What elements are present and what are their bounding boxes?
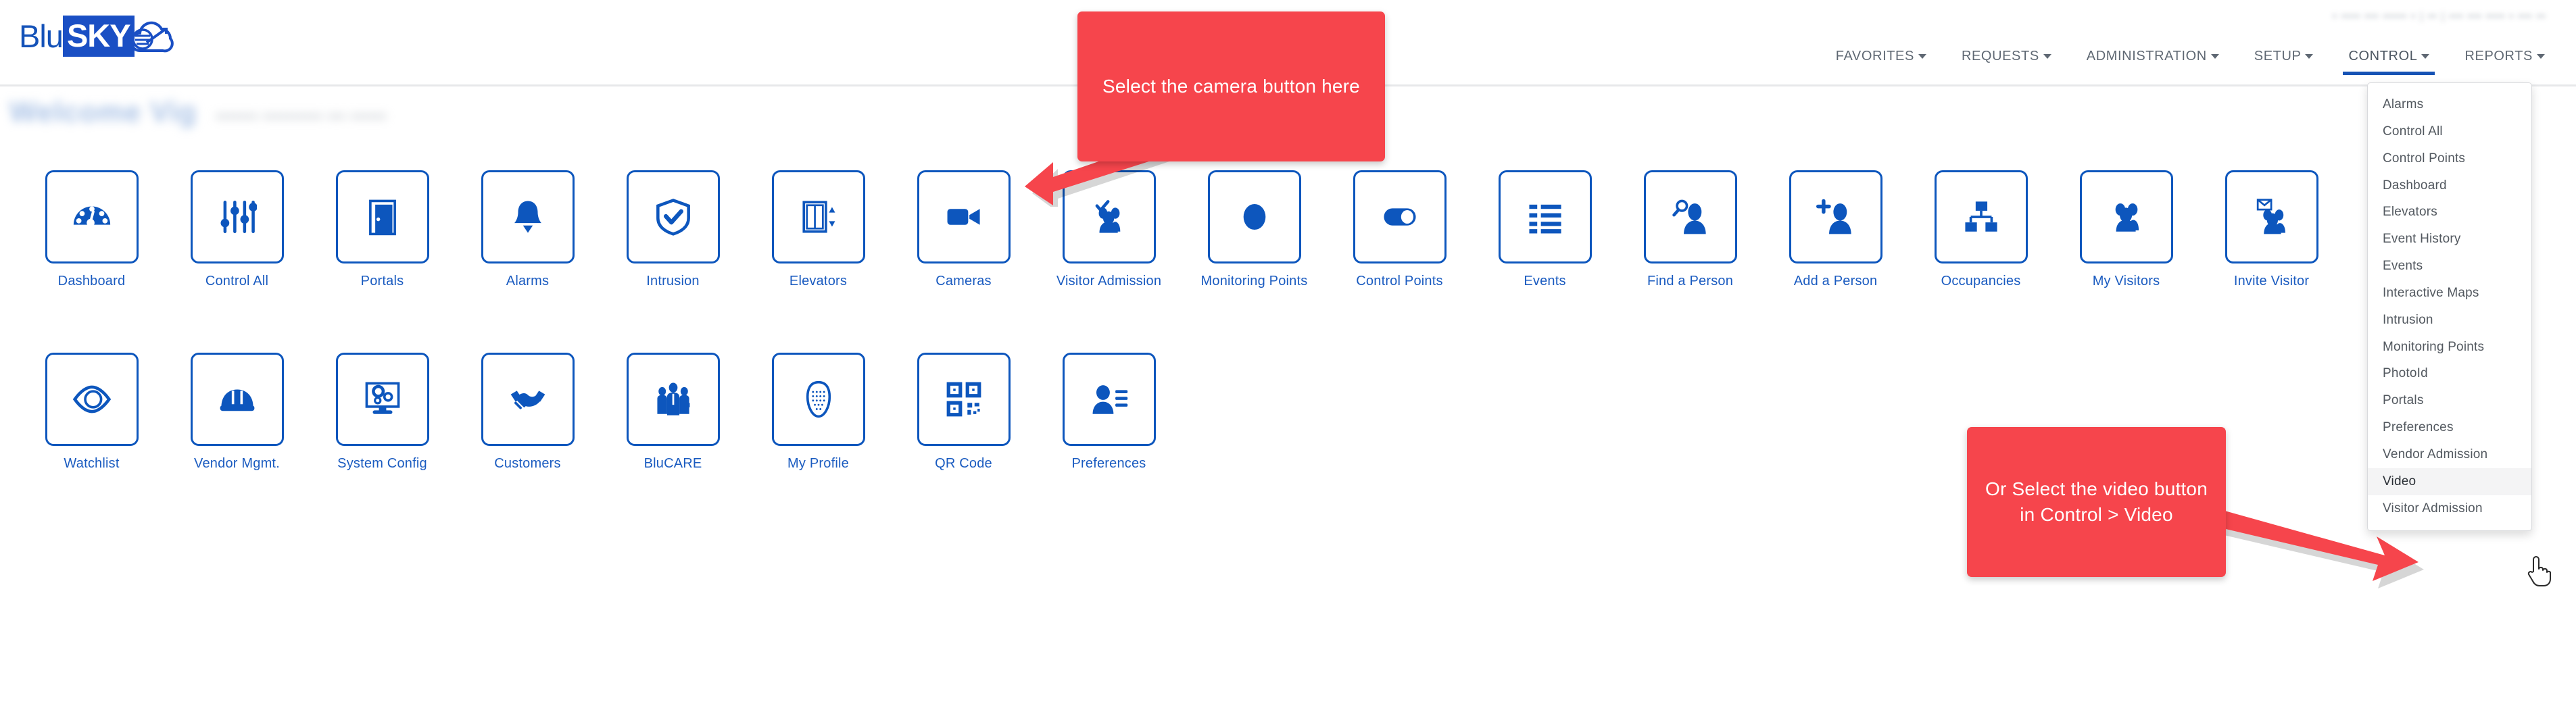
menu-item-alarms[interactable]: Alarms — [2368, 91, 2531, 118]
tile-label: Preferences — [1071, 456, 1146, 472]
tile-label: Monitoring Points — [1201, 274, 1308, 289]
nav-item-setup[interactable]: SETUP — [2237, 42, 2331, 79]
tile-label: Control Points — [1356, 274, 1442, 289]
tile-label: Add a Person — [1794, 274, 1878, 289]
list-icon — [1499, 170, 1592, 263]
tile-label: My Visitors — [2093, 274, 2160, 289]
tile-label: Invite Visitor — [2234, 274, 2309, 289]
menu-item-elevators[interactable]: Elevators — [2368, 199, 2531, 226]
gauge-icon — [45, 170, 139, 263]
tile-visitor-admission[interactable]: Visitor Admission — [1036, 170, 1182, 289]
menu-item-events[interactable]: Events — [2368, 253, 2531, 280]
nav-label-reports: REPORTS — [2464, 49, 2533, 64]
chevron-down-icon — [1918, 54, 1926, 59]
control-dropdown-menu: Alarms Control All Control Points Dashbo… — [2367, 82, 2532, 531]
tile-label: Visitor Admission — [1056, 274, 1161, 289]
tile-label: Find a Person — [1647, 274, 1733, 289]
tile-label: System Config — [337, 456, 427, 472]
tile-watchlist[interactable]: Watchlist — [19, 353, 164, 472]
tile-preferences[interactable]: Preferences — [1036, 353, 1182, 472]
tile-cameras[interactable]: Cameras — [891, 170, 1036, 289]
nav-item-control[interactable]: CONTROL — [2331, 42, 2447, 79]
welcome-subtitle: ••••••• •••••••••• ••• •••••• — [216, 105, 387, 129]
tile-label: Watchlist — [64, 456, 119, 472]
qr-code-icon — [917, 353, 1011, 446]
tile-occupancies[interactable]: Occupancies — [1908, 170, 2053, 289]
tile-portals[interactable]: Portals — [310, 170, 455, 289]
logo-text-sky: SKY — [63, 16, 135, 57]
menu-item-intrusion[interactable]: Intrusion — [2368, 307, 2531, 334]
nav-label-control: CONTROL — [2348, 49, 2417, 64]
tile-events[interactable]: Events — [1472, 170, 1618, 289]
nav-label-favorites: FAVORITES — [1836, 49, 1914, 64]
logo-text-blu: Blu — [19, 18, 63, 55]
callout-video: Or Select the video button in Control > … — [1967, 427, 2226, 577]
nav-item-administration[interactable]: ADMINISTRATION — [2069, 42, 2237, 79]
tile-label: Elevators — [789, 274, 847, 289]
blusky-dashboard-page: BluSKY • •••• ••• ••••• • | •• | ••• •••… — [0, 0, 2576, 704]
people-icon — [2080, 170, 2173, 263]
callout-camera: Select the camera button here — [1077, 11, 1385, 161]
pointing-hand-cursor — [2525, 554, 2552, 586]
shield-check-icon — [627, 170, 720, 263]
nav-label-setup: SETUP — [2254, 49, 2302, 64]
tile-row: Dashboard Control All — [19, 170, 2351, 289]
toggle-icon — [1353, 170, 1447, 263]
door-icon — [336, 170, 429, 263]
tile-label: Dashboard — [58, 274, 126, 289]
tile-blucare[interactable]: BluCARE — [600, 353, 746, 472]
tile-customers[interactable]: Customers — [455, 353, 600, 472]
monitor-gears-icon — [336, 353, 429, 446]
user-account-info: • •••• ••• ••••• • | •• | ••• ••• •••• •… — [2333, 11, 2546, 23]
tile-monitoring-points[interactable]: Monitoring Points — [1182, 170, 1327, 289]
tile-intrusion[interactable]: Intrusion — [600, 170, 746, 289]
tile-system-config[interactable]: System Config — [310, 353, 455, 472]
menu-item-photoid[interactable]: PhotoId — [2368, 360, 2531, 387]
tile-label: BluCARE — [644, 456, 702, 472]
tile-dashboard[interactable]: Dashboard — [19, 170, 164, 289]
nav-label-requests: REQUESTS — [1962, 49, 2039, 64]
chevron-down-icon — [2537, 54, 2545, 59]
person-search-icon — [1644, 170, 1737, 263]
hard-hat-icon — [191, 353, 284, 446]
people-check-icon — [1063, 170, 1156, 263]
org-chart-icon — [1935, 170, 2028, 263]
chevron-down-icon — [2043, 54, 2051, 59]
tile-control-points[interactable]: Control Points — [1327, 170, 1472, 289]
face-biometric-icon — [772, 353, 865, 446]
tile-label: My Profile — [787, 456, 849, 472]
blusky-logo[interactable]: BluSKY — [19, 9, 178, 62]
nav-item-reports[interactable]: REPORTS — [2447, 42, 2562, 79]
tile-label: Portals — [361, 274, 404, 289]
cloud-swoosh-icon — [126, 17, 178, 55]
menu-item-preferences[interactable]: Preferences — [2368, 414, 2531, 441]
callout-video-line1: Or Select the video button — [1985, 478, 2208, 499]
menu-item-event-history[interactable]: Event History — [2368, 226, 2531, 253]
welcome-banner: Welcome Vig ••••••• •••••••••• ••• •••••… — [9, 96, 387, 129]
menu-item-control-all[interactable]: Control All — [2368, 118, 2531, 145]
tile-label: Vendor Mgmt. — [194, 456, 280, 472]
circle-dot-icon — [1208, 170, 1301, 263]
tile-invite-visitor[interactable]: Invite Visitor — [2199, 170, 2344, 289]
video-camera-icon — [917, 170, 1011, 263]
bell-icon — [481, 170, 575, 263]
tile-elevators[interactable]: Elevators — [746, 170, 891, 289]
tile-label: Occupancies — [1941, 274, 2021, 289]
nav-label-administration: ADMINISTRATION — [2087, 49, 2207, 64]
callout-video-line2: in Control > Video — [2020, 504, 2172, 525]
group-people-icon — [627, 353, 720, 446]
tile-add-a-person[interactable]: Add a Person — [1763, 170, 1908, 289]
tile-label: Customers — [494, 456, 561, 472]
tile-label: Intrusion — [646, 274, 700, 289]
elevator-icon — [772, 170, 865, 263]
chevron-down-icon — [2305, 54, 2313, 59]
tile-find-a-person[interactable]: Find a Person — [1618, 170, 1763, 289]
tile-label: Control All — [205, 274, 268, 289]
menu-item-monitoring-points[interactable]: Monitoring Points — [2368, 334, 2531, 361]
tile-label: Alarms — [506, 274, 549, 289]
envelope-people-icon — [2225, 170, 2318, 263]
chevron-down-icon — [2421, 54, 2429, 59]
nav-item-favorites[interactable]: FAVORITES — [1818, 42, 1944, 79]
menu-item-visitor-admission[interactable]: Visitor Admission — [2368, 495, 2531, 522]
menu-item-portals[interactable]: Portals — [2368, 387, 2531, 414]
tile-label: Events — [1524, 274, 1565, 289]
tile-alarms[interactable]: Alarms — [455, 170, 600, 289]
tile-label: QR Code — [935, 456, 992, 472]
chevron-down-icon — [2211, 54, 2219, 59]
callout-camera-text: Select the camera button here — [1102, 74, 1360, 99]
tile-qr-code[interactable]: QR Code — [891, 353, 1036, 472]
tile-my-visitors[interactable]: My Visitors — [2053, 170, 2199, 289]
tile-my-profile[interactable]: My Profile — [746, 353, 891, 472]
nav-item-requests[interactable]: REQUESTS — [1944, 42, 2069, 79]
menu-item-dashboard[interactable]: Dashboard — [2368, 172, 2531, 199]
tile-vendor-mgmt[interactable]: Vendor Mgmt. — [164, 353, 310, 472]
welcome-greeting: Welcome Vig — [9, 96, 197, 129]
callout-video-text: Or Select the video button in Control > … — [1985, 476, 2208, 528]
tile-control-all[interactable]: Control All — [164, 170, 310, 289]
menu-item-video[interactable]: Video — [2368, 468, 2531, 495]
menu-item-control-points[interactable]: Control Points — [2368, 145, 2531, 172]
tile-label: Cameras — [935, 274, 992, 289]
eye-icon — [45, 353, 139, 446]
handshake-icon — [481, 353, 575, 446]
menu-item-vendor-admission[interactable]: Vendor Admission — [2368, 441, 2531, 468]
menu-item-interactive-maps[interactable]: Interactive Maps — [2368, 280, 2531, 307]
sliders-icon — [191, 170, 284, 263]
main-navigation: FAVORITES REQUESTS ADMINISTRATION SETUP … — [1818, 42, 2562, 79]
person-add-icon — [1789, 170, 1882, 263]
person-lines-icon — [1063, 353, 1156, 446]
